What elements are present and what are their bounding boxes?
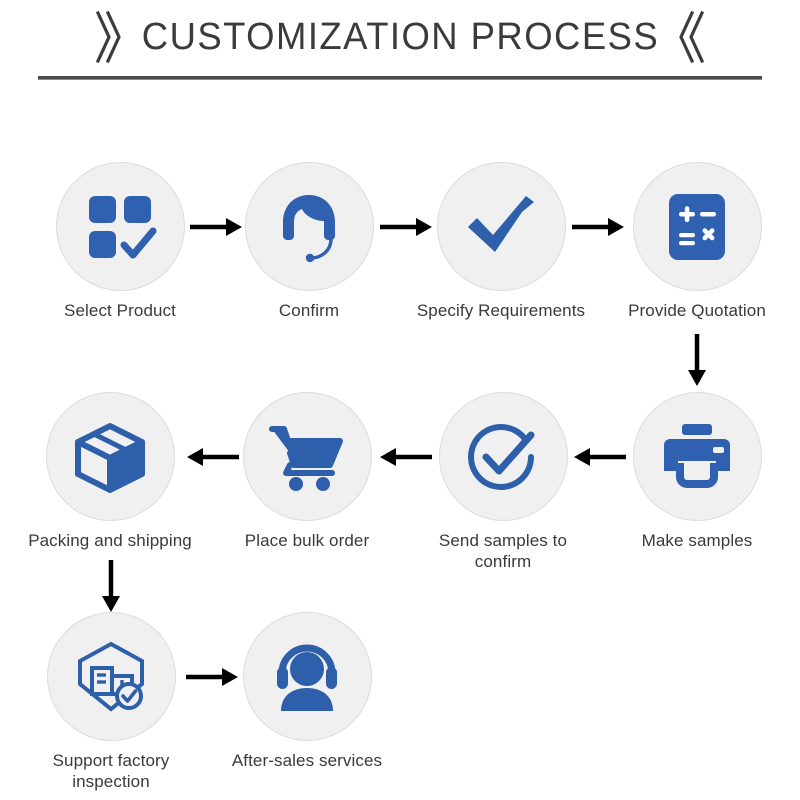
step-icon-circle (633, 392, 762, 521)
step-make-samples[interactable]: Make samples (612, 392, 782, 551)
step-packing-and-shipping[interactable]: Packing and shipping (25, 392, 195, 551)
step-after-sales-services[interactable]: After-sales services (222, 612, 392, 771)
step-label: Packing and shipping (25, 530, 195, 551)
step-label: Confirm (224, 300, 394, 321)
step-provide-quotation[interactable]: Provide Quotation (612, 162, 782, 321)
step-icon-circle (243, 612, 372, 741)
step-label: Select Product (35, 300, 205, 321)
double-chevron-right-icon (95, 11, 121, 63)
step-icon-circle (633, 162, 762, 291)
step-place-bulk-order[interactable]: Place bulk order (222, 392, 392, 551)
step-select-product[interactable]: Select Product (35, 162, 205, 321)
step-label: Specify Requirements (416, 300, 586, 321)
step-label: Support factory inspection (26, 750, 196, 792)
step-confirm[interactable]: Confirm (224, 162, 394, 321)
step-icon-circle (437, 162, 566, 291)
step-label: Place bulk order (222, 530, 392, 551)
grid-check-icon (83, 190, 157, 264)
shopping-cart-icon (268, 421, 346, 493)
check-circle-icon (465, 419, 541, 495)
step-label: Send samples to confirm (418, 530, 588, 572)
page-title: CUSTOMIZATION PROCESS (141, 16, 658, 59)
step-icon-circle (46, 392, 175, 521)
double-chevron-left-icon (679, 11, 705, 63)
checkmark-icon (462, 190, 540, 264)
step-icon-circle (439, 392, 568, 521)
support-agent-headset-icon (271, 189, 347, 265)
step-icon-circle (47, 612, 176, 741)
step-icon-circle (243, 392, 372, 521)
step-send-samples-to-confirm[interactable]: Send samples to confirm (418, 392, 588, 572)
step-label: Make samples (612, 530, 782, 551)
step-icon-circle (56, 162, 185, 291)
step-label: After-sales services (222, 750, 392, 771)
arrow-quotation-to-make-samples (682, 332, 712, 388)
factory-inspection-shield-icon (72, 638, 150, 716)
calculator-icon (663, 190, 731, 264)
title-divider (38, 76, 762, 80)
step-specify-requirements[interactable]: Specify Requirements (416, 162, 586, 321)
package-box-icon (70, 418, 150, 496)
step-icon-circle (245, 162, 374, 291)
arrow-packing-to-inspection (96, 558, 126, 614)
headphones-person-icon (268, 641, 346, 713)
page-header: CUSTOMIZATION PROCESS (0, 0, 800, 92)
step-support-factory-inspection[interactable]: Support factory inspection (26, 612, 196, 792)
printer-icon (658, 421, 736, 493)
title-row: CUSTOMIZATION PROCESS (0, 6, 800, 68)
step-label: Provide Quotation (612, 300, 782, 321)
